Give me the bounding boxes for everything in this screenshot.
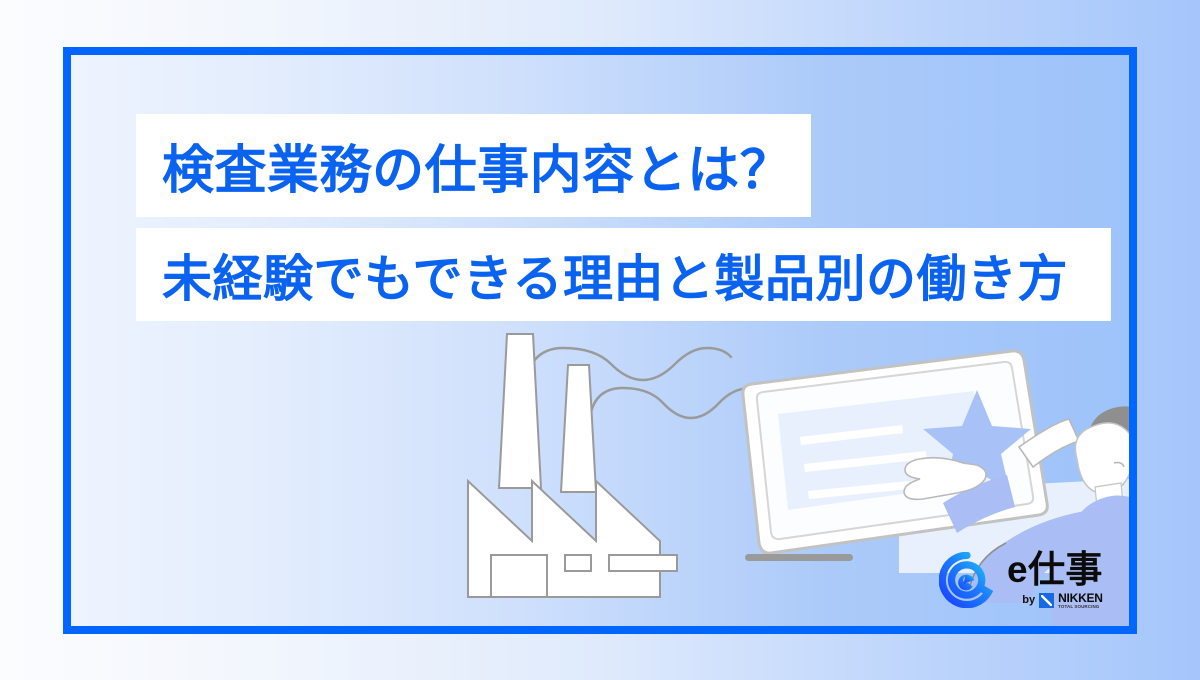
factory-smoke-icon — [523, 348, 775, 463]
hand-icon — [904, 458, 986, 500]
logo-wordmark-group: e仕事 by NIKKEN TOTAL SOURCING — [1007, 551, 1103, 610]
factory-icon — [468, 334, 677, 597]
headline-line-1: 検査業務の仕事内容とは？ — [136, 128, 792, 203]
byline-prefix: by — [1022, 595, 1035, 606]
headline-box-secondary: 未経験でもできる理由と製品別の働き方 — [136, 228, 1111, 321]
headline-line-2: 未経験でもできる理由と製品別の働き方 — [136, 239, 1068, 311]
sleeve — [943, 475, 1015, 533]
logo-byline: by NIKKEN TOTAL SOURCING — [1022, 592, 1102, 610]
nikken-brand-tagline: TOTAL SOURCING — [1058, 605, 1103, 610]
face — [1075, 423, 1129, 494]
logo-wordmark-text: e仕事 — [1007, 551, 1103, 588]
brand-logo-lockup[interactable]: e仕事 by NIKKEN TOTAL SOURCING — [939, 544, 1119, 616]
tablet-icon — [743, 351, 1047, 553]
e-shigoto-mark-icon — [939, 552, 995, 608]
nikken-text-group: NIKKEN TOTAL SOURCING — [1058, 592, 1103, 610]
nikken-slash-icon — [1039, 593, 1054, 608]
nikken-brand-name: NIKKEN — [1058, 592, 1103, 604]
grey-divider — [745, 554, 853, 561]
headline-box-primary: 検査業務の仕事内容とは？ — [136, 114, 811, 217]
promo-banner: 検査業務の仕事内容とは？ 未経験でもできる理由と製品別の働き方 e仕事 by — [63, 47, 1137, 634]
star-icon — [923, 390, 1031, 492]
hair-ponytail — [1123, 425, 1129, 472]
